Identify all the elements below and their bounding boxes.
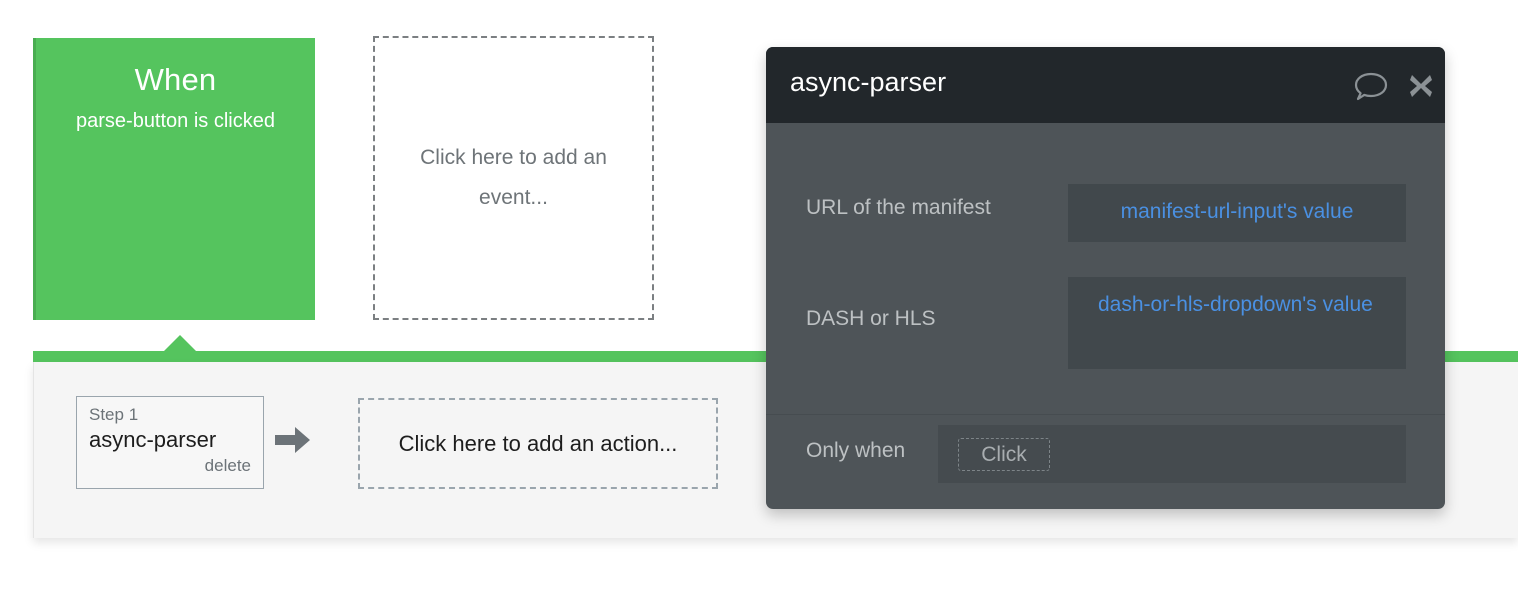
step-number-label: Step 1 <box>89 403 251 427</box>
workflow-connector-arrow-icon <box>163 335 197 352</box>
property-editor-panel: async-parser URL of the manifest manifes… <box>766 47 1445 509</box>
add-event-placeholder[interactable]: Click here to add an event... <box>373 36 654 320</box>
property-field-url[interactable]: manifest-url-input's value <box>1068 184 1406 242</box>
property-row-breakpoint: Add a breakpoint in debug mode <box>766 505 1445 509</box>
panel-title: async-parser <box>790 67 946 98</box>
when-keyword: When <box>36 60 315 100</box>
close-x-icon[interactable] <box>1408 73 1434 99</box>
property-label-url: URL of the manifest <box>806 196 991 220</box>
arrow-right-icon <box>273 423 313 457</box>
only-when-click-chip[interactable]: Click <box>958 438 1050 471</box>
add-action-placeholder[interactable]: Click here to add an action... <box>358 398 718 489</box>
property-field-dash-or-hls[interactable]: dash-or-hls-dropdown's value <box>1068 277 1406 369</box>
property-label-dash-or-hls: DASH or HLS <box>806 307 936 331</box>
step-card[interactable]: Step 1 async-parser delete <box>76 396 264 489</box>
when-description: parse-button is clicked <box>36 106 315 136</box>
panel-header: async-parser <box>766 47 1445 123</box>
property-row-only-when: Only when Click <box>766 425 1445 483</box>
property-row-url: URL of the manifest manifest-url-input's… <box>766 184 1445 242</box>
step-delete-link[interactable]: delete <box>89 455 251 477</box>
when-trigger-block[interactable]: When parse-button is clicked <box>33 38 315 320</box>
add-action-label: Click here to add an action... <box>399 431 678 457</box>
property-row-dash-or-hls: DASH or HLS dash-or-hls-dropdown's value <box>766 277 1445 369</box>
panel-divider <box>766 414 1445 415</box>
step-name-label: async-parser <box>89 426 251 454</box>
add-event-label: Click here to add an event... <box>396 138 632 218</box>
only-when-field[interactable]: Click <box>938 425 1406 483</box>
speech-bubble-icon[interactable] <box>1354 71 1388 101</box>
property-label-only-when: Only when <box>806 439 905 463</box>
panel-body: URL of the manifest manifest-url-input's… <box>766 123 1445 509</box>
